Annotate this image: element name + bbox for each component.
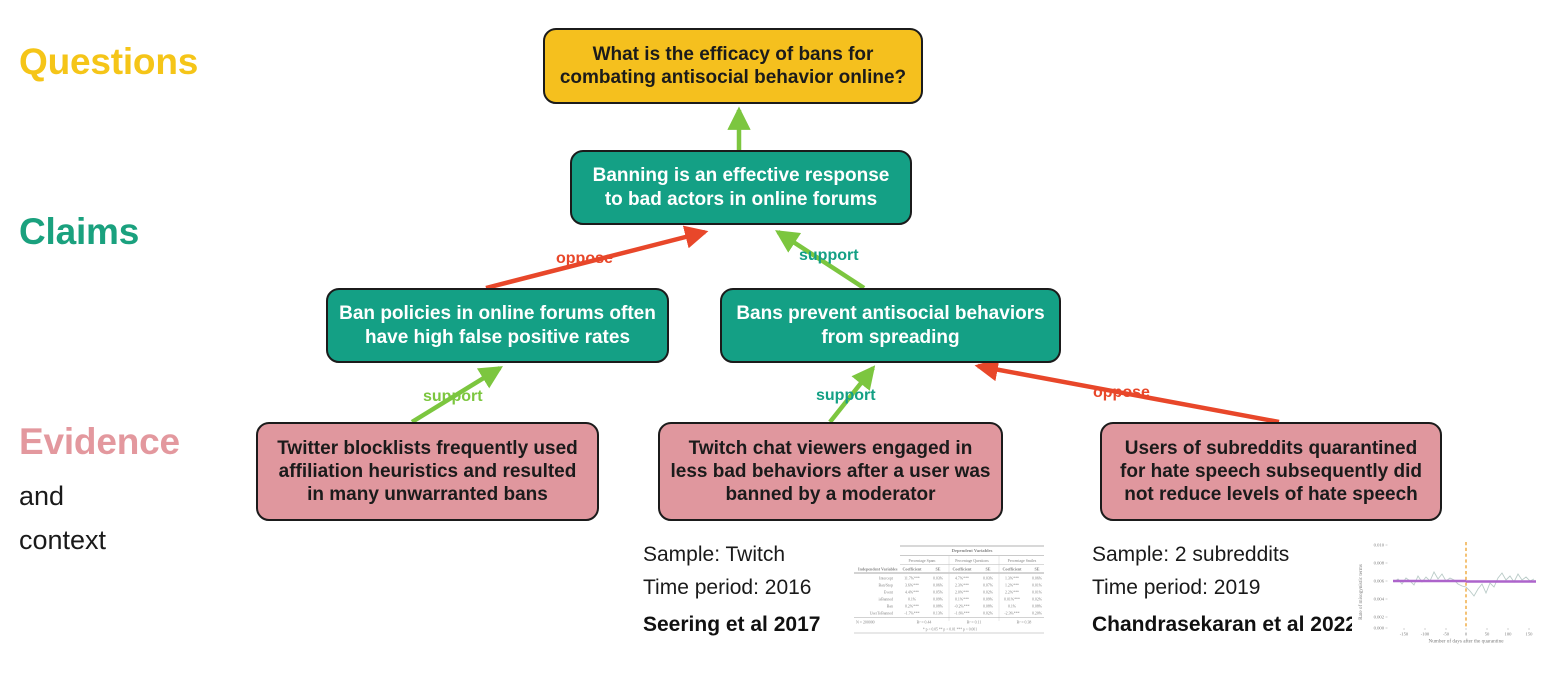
citation-reference[interactable]: Seering et al 2017 (643, 609, 820, 642)
regression-table-thumbnail[interactable]: Dependent Variables Percentage Spam Perc… (848, 537, 1053, 641)
edge-label-oppose-claim2-claim1: oppose (556, 250, 613, 268)
quarantine-effect-chart-thumbnail[interactable]: Rate of misogynistic terms 0.010 0.008 0… (1352, 534, 1552, 644)
row-label-evidence-sub-context: context (19, 525, 106, 556)
citation-sample: Sample: 2 subreddits (1092, 539, 1357, 572)
citation-block-seering: Sample: Twitch Time period: 2016 Seering… (643, 539, 820, 642)
evidence-node-twitch-chat[interactable]: Twitch chat viewers engaged in less bad … (658, 422, 1003, 521)
citation-time-period: Time period: 2016 (643, 572, 820, 605)
row-label-evidence: Evidence (19, 421, 180, 463)
citation-time-period: Time period: 2019 (1092, 572, 1357, 605)
edge-label-support-claim3-claim1: support (799, 247, 859, 265)
row-label-claims: Claims (19, 211, 139, 253)
edge-label-oppose-evidence3-claim3: oppose (1093, 384, 1150, 402)
citation-reference[interactable]: Chandrasekaran et al 2022 (1092, 609, 1357, 642)
citation-block-chandrasekaran: Sample: 2 subreddits Time period: 2019 C… (1092, 539, 1357, 642)
question-node-efficacy-of-bans[interactable]: What is the efficacy of bans for combati… (543, 28, 923, 104)
claim-node-banning-effective[interactable]: Banning is an effective response to bad … (570, 150, 912, 225)
edge-label-support-evidence1-claim2: support (423, 388, 483, 406)
evidence-node-subreddit-quarantine[interactable]: Users of subreddits quarantined for hate… (1100, 422, 1442, 521)
edge-label-support-evidence2-claim3: support (816, 387, 876, 405)
argument-graph-canvas: Questions Claims Evidence and context (0, 0, 1555, 684)
row-label-questions: Questions (19, 41, 198, 83)
row-label-evidence-sub-and: and (19, 481, 64, 512)
claim-node-false-positive-rates[interactable]: Ban policies in online forums often have… (326, 288, 669, 363)
citation-sample: Sample: Twitch (643, 539, 820, 572)
evidence-node-twitter-blocklists[interactable]: Twitter blocklists frequently used affil… (256, 422, 599, 521)
claim-node-bans-prevent-spreading[interactable]: Bans prevent antisocial behaviors from s… (720, 288, 1061, 363)
